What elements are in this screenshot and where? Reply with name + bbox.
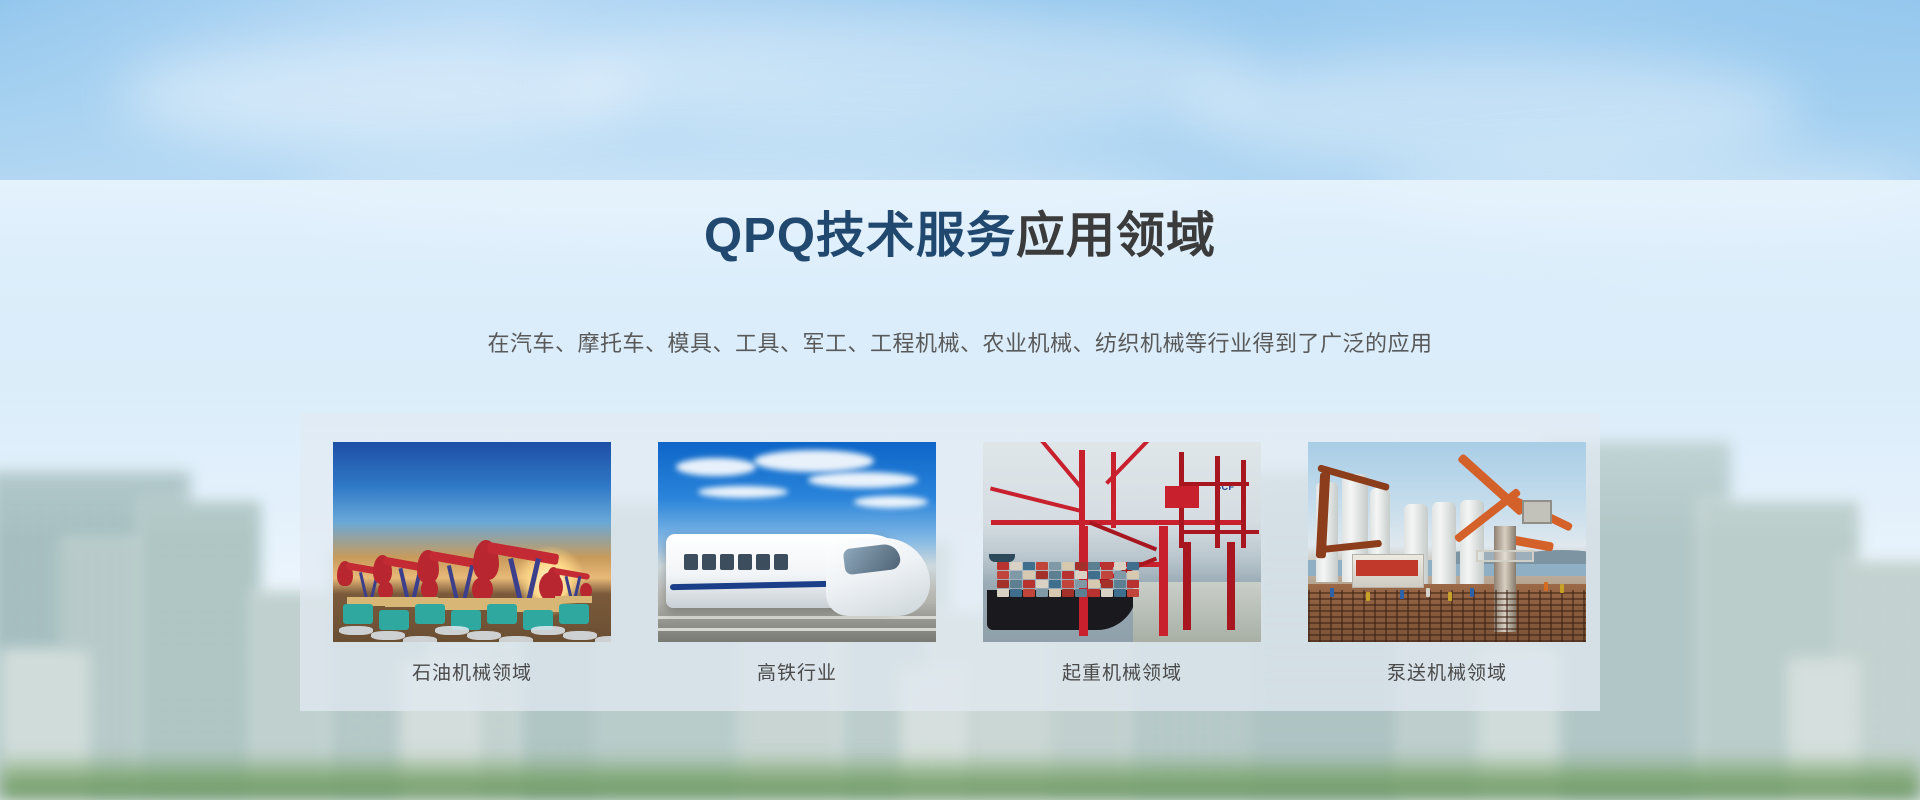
shipping-container: [1036, 571, 1048, 579]
rebar-line: [1352, 590, 1354, 642]
shipping-container: [1023, 571, 1035, 579]
shipping-container: [1114, 589, 1126, 597]
rebar-line: [1407, 590, 1409, 642]
shipping-container: [1010, 589, 1022, 597]
cloud: [676, 458, 756, 476]
rebar-line: [1396, 590, 1398, 642]
shipping-container: [1075, 562, 1087, 570]
quay: [1133, 582, 1261, 642]
page-title-rest: 应用领域: [1016, 209, 1216, 263]
cement-silo: [1432, 502, 1456, 584]
shipping-container: [997, 580, 1009, 588]
rebar-line: [1308, 628, 1586, 630]
shipping-container: [1023, 580, 1035, 588]
rebar-line: [1308, 640, 1586, 642]
rebar-line: [1330, 590, 1332, 642]
rebar-line: [1363, 590, 1365, 642]
rebar-line: [1308, 634, 1586, 636]
worker: [1544, 582, 1548, 591]
crane-member: [1227, 542, 1235, 630]
card-list: 石油机械领域: [300, 413, 1600, 711]
shipping-container: [1101, 589, 1113, 597]
shipping-container: [1062, 589, 1074, 597]
rebar-line: [1308, 604, 1586, 606]
shipping-container: [1127, 589, 1139, 597]
rebar-line: [1462, 590, 1464, 642]
shipping-container: [1101, 580, 1113, 588]
shipping-container: [1062, 580, 1074, 588]
worker: [1448, 592, 1452, 601]
shipping-container: [1010, 580, 1022, 588]
wellhead-equipment: [379, 610, 409, 630]
rebar-line: [1506, 590, 1508, 642]
shipping-container: [1062, 562, 1074, 570]
card-oil[interactable]: 石油机械领域: [333, 442, 611, 685]
snow-patch: [403, 636, 437, 642]
wellhead-equipment: [343, 604, 373, 624]
shipping-container: [1010, 571, 1022, 579]
wellhead-equipment: [415, 604, 445, 624]
page-title-accent: QPQ技术服务: [704, 209, 1016, 263]
crane-member: [1165, 486, 1199, 508]
shipping-container: [1075, 571, 1087, 579]
rebar-line: [1539, 590, 1541, 642]
crane-scene: SCF SCF: [983, 442, 1261, 642]
wellhead-equipment: [487, 604, 517, 624]
cards-panel: 石油机械领域: [300, 413, 1600, 711]
shipping-container: [1049, 580, 1061, 588]
oil-pumpjacks-photo[interactable]: [333, 442, 611, 642]
crane-member: [1183, 542, 1191, 630]
crane-member: [991, 520, 1241, 525]
rebar-line: [1473, 590, 1475, 642]
shipping-container: [1049, 571, 1061, 579]
rebar-line: [1550, 590, 1552, 642]
shipping-container: [997, 571, 1009, 579]
shipping-container: [1023, 562, 1035, 570]
snow-patch: [499, 636, 533, 642]
concrete-pump-photo[interactable]: [1308, 442, 1586, 642]
crane-member: [1241, 460, 1246, 548]
shipping-container: [1127, 571, 1139, 579]
shipping-container: [1127, 562, 1139, 570]
shipping-container: [997, 562, 1009, 570]
shipping-container: [1062, 571, 1074, 579]
card-caption: 高铁行业: [658, 658, 936, 685]
tugboat: [989, 554, 1015, 562]
crane-member: [1111, 452, 1116, 528]
rebar-line: [1495, 590, 1497, 642]
rebar-line: [1528, 590, 1530, 642]
train-scene: [658, 442, 936, 642]
high-speed-train-photo[interactable]: [658, 442, 936, 642]
shipping-container: [1088, 571, 1100, 579]
shipping-container: [1114, 562, 1126, 570]
snow-patch: [595, 636, 611, 642]
snow-patch: [339, 626, 373, 635]
crane-member: [1079, 450, 1085, 530]
shipping-container: [1114, 571, 1126, 579]
pump-scene: [1308, 442, 1586, 642]
shipping-container: [1036, 562, 1048, 570]
shipping-container: [1127, 580, 1139, 588]
card-crane[interactable]: SCF SCF 起重机械领域: [983, 442, 1261, 685]
shipping-container: [1088, 589, 1100, 597]
rebar-line: [1385, 590, 1387, 642]
cloud: [854, 496, 928, 508]
shipping-container: [1088, 562, 1100, 570]
page-title: QPQ技术服务应用领域: [0, 196, 1920, 267]
shipping-container: [1049, 589, 1061, 597]
rebar-line: [1418, 590, 1420, 642]
worker: [1426, 588, 1430, 597]
crane-member: [1159, 526, 1168, 636]
rebar-line: [1572, 590, 1574, 642]
crane-member: [1034, 442, 1082, 488]
oil-scene: [333, 442, 611, 642]
snow-patch: [435, 626, 469, 635]
rebar-line: [1308, 610, 1586, 612]
crane-member: [990, 486, 1084, 513]
card-pump[interactable]: 泵送机械领域: [1308, 442, 1586, 685]
rebar-line: [1341, 590, 1343, 642]
snow-patch: [563, 631, 597, 640]
rebar-line: [1308, 616, 1586, 618]
shipping-container: [1049, 562, 1061, 570]
page-subtitle: 在汽车、摩托车、模具、工具、军工、工程机械、农业机械、纺织机械等行业得到了广泛的…: [0, 326, 1920, 358]
rebar-line: [1440, 590, 1442, 642]
shipping-container: [1101, 562, 1113, 570]
cloud: [698, 486, 788, 498]
shipping-container: [1075, 589, 1087, 597]
operator-cabin: [1522, 500, 1552, 524]
shipping-container: [1036, 580, 1048, 588]
rebar-line: [1517, 590, 1519, 642]
shipping-container: [1114, 580, 1126, 588]
shipping-container: [1101, 571, 1113, 579]
snow-patch: [371, 631, 405, 640]
worker: [1560, 584, 1564, 593]
card-caption: 石油机械领域: [333, 658, 611, 685]
rebar-line: [1429, 590, 1431, 642]
cement-silo: [1460, 500, 1484, 584]
wellhead-equipment: [559, 604, 589, 624]
rebar-line: [1374, 590, 1376, 642]
cloud: [808, 472, 918, 488]
rebar-line: [1561, 590, 1563, 642]
shipping-container: [1088, 580, 1100, 588]
shipping-container: [1075, 580, 1087, 588]
pumpjack: [547, 566, 592, 606]
worker: [1366, 592, 1370, 601]
worker: [1470, 588, 1474, 597]
rebar-line: [1583, 590, 1585, 642]
shipping-container: [1010, 562, 1022, 570]
crane-member: [1089, 521, 1157, 552]
rebar-line: [1308, 590, 1310, 642]
rebar-line: [1484, 590, 1486, 642]
shipping-container: [1023, 589, 1035, 597]
banner: [1356, 560, 1418, 576]
rebar-line: [1308, 592, 1586, 594]
access-platform: [1476, 550, 1534, 562]
crane-member: [1179, 530, 1259, 534]
shipping-container: [997, 589, 1009, 597]
cloud: [754, 450, 874, 472]
snow-patch: [467, 631, 501, 640]
rebar-line: [1308, 622, 1586, 624]
card-train[interactable]: 高铁行业: [658, 442, 936, 685]
card-caption: 泵送机械领域: [1308, 658, 1586, 685]
worker: [1330, 588, 1334, 597]
snow-patch: [531, 626, 565, 635]
shipping-container: [1036, 589, 1048, 597]
worker: [1400, 590, 1404, 599]
card-caption: 起重机械领域: [983, 658, 1261, 685]
port-gantry-cranes-photo[interactable]: SCF SCF: [983, 442, 1261, 642]
crane-member: [1215, 456, 1220, 548]
rebar-line: [1319, 590, 1321, 642]
rebar-line: [1308, 598, 1586, 600]
